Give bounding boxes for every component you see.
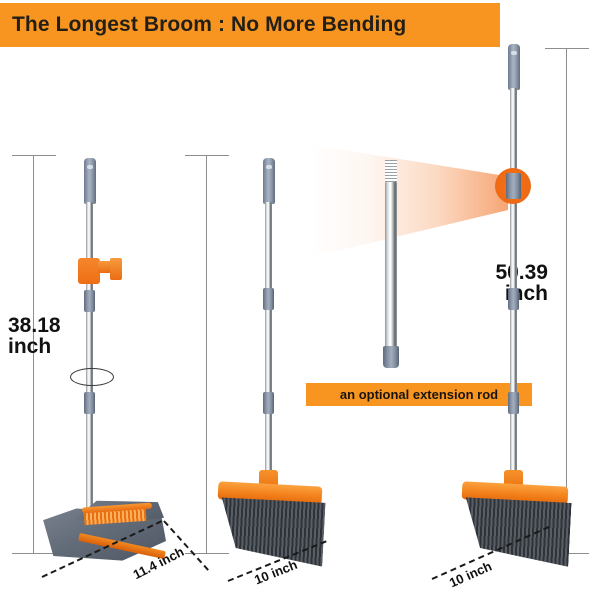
right-broom-width-label: 10 inch (447, 558, 494, 590)
left-hanging-ring (70, 368, 114, 386)
highlight-beam (312, 145, 508, 257)
right-dimension-top-tick (545, 48, 589, 49)
middle-dimension-line (206, 155, 207, 553)
extension-rod-caption: an optional extension rod (306, 383, 532, 406)
right-dimension-value: 50.39 (495, 262, 548, 283)
middle-dimension-top-tick (185, 155, 229, 156)
left-pole-sleeve-upper (84, 290, 95, 312)
page-title: The Longest Broom : No More Bending (0, 13, 406, 37)
left-dimension-top-tick (12, 155, 56, 156)
right-dimension-unit: inch (495, 283, 548, 304)
left-dimension-value: 38.18 (8, 315, 61, 336)
right-handle-hang-hole (511, 51, 517, 55)
middle-pole-sleeve-lower (263, 392, 274, 414)
left-broom-clip-arm-lower[interactable] (110, 258, 122, 280)
header-banner: The Longest Broom : No More Bending (0, 3, 500, 47)
right-dimension-line (566, 48, 567, 553)
middle-handle-hang-hole (266, 165, 272, 169)
left-handle-hang-hole (87, 165, 93, 169)
middle-broom-bristles (218, 497, 325, 566)
left-pole-sleeve-lower (84, 392, 95, 414)
right-pole-sleeve-middle (508, 288, 519, 310)
left-pole (86, 202, 93, 512)
right-pole-connector-sleeve (506, 173, 521, 199)
left-dimension-bottom-tick (12, 553, 56, 554)
middle-pole (265, 202, 272, 490)
middle-pole-sleeve-upper (263, 288, 274, 310)
extension-rod-shaft (385, 182, 397, 349)
right-dimension-label: 50.39 inch (495, 262, 548, 305)
extension-rod-end-cap (383, 346, 399, 368)
right-pole-sleeve-lower (508, 392, 519, 414)
extension-rod-caption-text: an optional extension rod (340, 387, 498, 402)
left-dimension-unit: inch (8, 336, 61, 357)
left-broom-clip[interactable] (78, 258, 100, 284)
extension-rod-threads (385, 160, 397, 184)
left-dimension-label: 38.18 inch (8, 315, 61, 358)
infographic-canvas: The Longest Broom : No More Bending 38.1… (0, 0, 600, 599)
